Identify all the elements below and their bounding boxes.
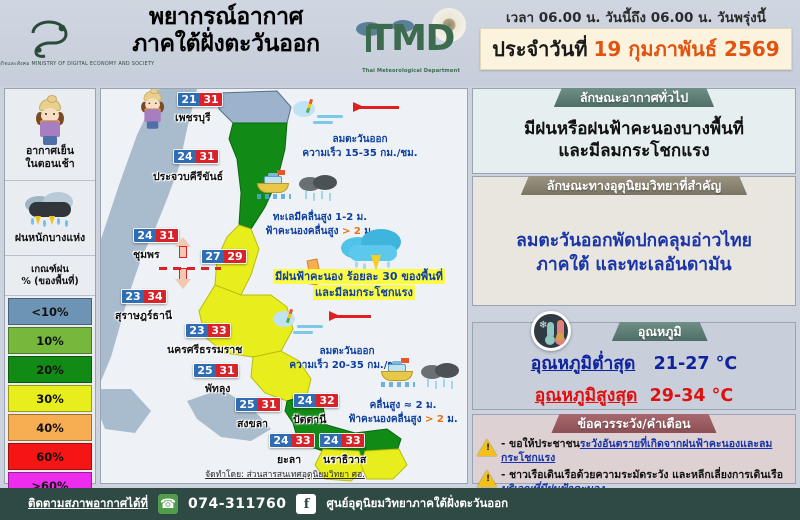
temp-max: 32 [316, 394, 338, 407]
met-line2: ภาคใต้ และทะเลอันดามัน [536, 253, 731, 278]
scale-label: 60% [36, 450, 64, 464]
wind-direction-line [335, 315, 371, 318]
date-value: 19 กุมภาพันธ์ 2569 [594, 33, 780, 65]
temp-max: 29 [224, 250, 246, 263]
cold-morning-marker-icon [137, 91, 168, 129]
sea-south-line2-c: ม. [444, 414, 458, 425]
panel-warning-body: ! - ขอให้ประชาชนระวังอันตรายที่เกิดจากฝน… [477, 437, 791, 481]
panel-meteorological: ลักษณะทางอุตุนิยมวิทยาที่สำคัญ ลมตะวันออ… [472, 176, 796, 306]
city-label-chumphon: ชุมพร [133, 246, 160, 263]
arrow-down-icon [175, 267, 191, 289]
temperature-max-row: อุณหภูมิสูงสุด 29-34 °C [535, 381, 733, 409]
rain-cloud-icon [421, 363, 459, 393]
scale-label: 30% [36, 392, 64, 406]
sea-south-line1: คลื่นสูง ≈ 2 ม. [370, 400, 437, 411]
boat-icon [257, 173, 291, 199]
temp-badge-pattani[interactable]: 24 32 [293, 393, 339, 408]
storm-annotation-line1: มีฝนฟ้าคะนอง ร้อยละ 30 ของพื้นที่ [273, 269, 445, 284]
forecast-map: 21 31 เพชรบุรี 24 31 ประจวบคีรีขันธ์ 24 … [100, 88, 468, 484]
temp-min: 24 [294, 394, 316, 407]
temperature-max-value: 29-34 °C [650, 386, 734, 406]
scale-item: 10% [8, 327, 92, 354]
sea-annotation-south: คลื่นสูง ≈ 2 ม. ฟ้าคะนองคลื่นสูง > 2 ม. [337, 399, 468, 426]
temp-badge-samui[interactable]: 27 29 [201, 249, 247, 264]
temp-min: 24 [270, 434, 292, 447]
date-badge: ประจำวันที่ 19 กุมภาพันธ์ 2569 [480, 28, 792, 70]
scale-item: 30% [8, 385, 92, 412]
page-title-line1: พยากรณ์อากาศ [96, 4, 356, 31]
warning-item: ! - ขอให้ประชาชนระวังอันตรายที่เกิดจากฝน… [477, 437, 791, 466]
scale-item: 40% [8, 414, 92, 441]
facebook-icon[interactable]: f [296, 494, 316, 514]
wind-south-line1: ลมตะวันออก [319, 346, 374, 357]
general-line1: มีฝนหรือฝนฟ้าคะนองบางพื้นที่ [524, 118, 744, 140]
header-bar: กระทรวงดิจิทัลเพื่อเศรษฐกิจและสังคม MINI… [0, 0, 800, 86]
temp-max: 34 [144, 290, 166, 303]
temp-min: 21 [178, 93, 200, 106]
temp-badge-nakhon-si[interactable]: 23 33 [185, 323, 231, 338]
wind-north-line2: ความเร็ว 15-35 กม./ชม. [302, 148, 417, 159]
temp-max: 31 [196, 150, 218, 163]
city-label-songkhla: สงขลา [237, 415, 268, 432]
neighbour-land-andaman [101, 389, 151, 433]
date-label: ประจำวันที่ [492, 33, 587, 65]
ministry-emblem-icon [26, 19, 72, 59]
forecast-time-range: เวลา 06.00 น. วันนี้ถึง 06.00 น. วันพรุ่… [480, 6, 792, 28]
panel-warning: ข้อควรระวัง/คำเตือน ! - ขอให้ประชาชนระวั… [472, 414, 796, 484]
city-label-phetchaburi: เพชรบุรี [175, 109, 211, 126]
warning-triangle-icon: ! [477, 439, 497, 457]
city-label-surat-thani: สุราษฎร์ธานี [115, 307, 172, 324]
storm-annotation-line2: และมีลมกระโชกแรง [313, 285, 415, 300]
legend-scale-title: เกณฑ์ฝน % (ของพื้นที่) [5, 256, 95, 296]
general-line2: และมีลมกระโชกแรง [558, 140, 709, 162]
arrow-up-icon [175, 237, 191, 259]
legend-cold-morning: อากาศเย็น ในตอนเช้า [5, 89, 95, 181]
sea-south-line2-a: ฟ้าคะนองคลื่นสูง [348, 414, 425, 425]
scale-label: 40% [36, 421, 64, 435]
legend-cold-label-1: อากาศเย็น [26, 145, 74, 158]
temperature-min-value: 21-27 °C [654, 354, 738, 374]
tmd-wordmark: TMD [352, 18, 470, 59]
warning-triangle-icon: ! [477, 470, 497, 488]
city-label-prachuap: ประจวบคีรีขันธ์ [153, 168, 223, 185]
warning-1-plain: - ขอให้ประชาชน [501, 438, 580, 450]
wind-north-line1: ลมตะวันออก [332, 134, 387, 145]
met-line1: ลมตะวันออกพัดปกคลุมอ่าวไทย [516, 229, 752, 254]
thermometer-icon: ❄ [531, 311, 571, 351]
thunder-rain-cloud-icon [23, 192, 77, 232]
temperature-max-label: อุณหภูมิสูงสุด [535, 386, 638, 406]
footer-follow-label: ติดตามสภาพอากาศได้ที่ [28, 495, 148, 513]
temp-min: 24 [174, 150, 196, 163]
footer-bar: ติดตามสภาพอากาศได้ที่ ☎ 074-311760 f ศูน… [0, 488, 800, 520]
sea-north-line2-a: ฟ้าคะนองคลื่นสูง [265, 226, 342, 237]
ministry-caption: กระทรวงดิจิทัลเพื่อเศรษฐกิจและสังคม MINI… [0, 61, 154, 68]
city-label-narathiwat: นราธิวาส [323, 451, 366, 468]
temp-badge-songkhla[interactable]: 25 31 [235, 397, 281, 412]
temp-min: 25 [236, 398, 258, 411]
wind-direction-arrow-icon [353, 102, 364, 112]
temp-badge-phetchaburi[interactable]: 21 31 [177, 92, 223, 107]
city-label-phatthalung: พัทลุง [205, 380, 230, 397]
temp-max: 31 [216, 364, 238, 377]
scale-item: 60% [8, 443, 92, 470]
city-label-nakhon-si: นครศรีธรรมราช [167, 341, 242, 358]
dashed-boundary-line [159, 267, 221, 270]
warning-item-1-text: - ขอให้ประชาชนระวังอันตรายที่เกิดจากฝนฟ้… [501, 437, 791, 466]
panel-warning-header: ข้อควรระวัง/คำเตือน [551, 414, 716, 433]
scale-title-line2: % (ของพื้นที่) [21, 276, 78, 287]
tmd-logo: TMD Thai Meteorological Department [352, 6, 470, 80]
scale-label: 20% [36, 363, 64, 377]
province-phetchaburi[interactable] [219, 91, 291, 127]
sun-icon [556, 333, 564, 341]
rain-percentage-scale: <10% 10% 20% 30% 40% 60% >60% [5, 298, 95, 499]
temp-max: 31 [200, 93, 222, 106]
temp-max: 33 [208, 324, 230, 337]
panel-meteorological-body: ลมตะวันออกพัดปกคลุมอ่าวไทย ภาคใต้ และทะเ… [473, 205, 795, 301]
page-title-line2: ภาคใต้ฝั่งตะวันออก [96, 31, 356, 58]
sea-north-line1: ทะเลมีคลื่นสูง 1-2 ม. [273, 212, 367, 223]
panel-meteorological-header: ลักษณะทางอุตุนิยมวิทยาที่สำคัญ [521, 176, 747, 195]
temp-min: 27 [202, 250, 224, 263]
panel-temperature-header: อุณหภูมิ [612, 322, 708, 341]
wind-direction-line [359, 106, 399, 109]
sea-south-line2-b: > 2 [425, 414, 444, 425]
temp-badge-yala[interactable]: 24 33 [269, 433, 315, 448]
temp-badge-chumphon[interactable]: 24 31 [133, 228, 179, 243]
panel-temperature: ❄ อุณหภูมิ อุณหภูมิต่ำสุด 21-27 °C อุณหภ… [472, 322, 796, 410]
panel-temperature-body: อุณหภูมิต่ำสุด 21-27 °C อุณหภูมิสูงสุด 2… [473, 351, 795, 407]
legend-cold-label-2: ในตอนเช้า [25, 158, 74, 171]
city-label-pattani: ปัตตานี [293, 411, 326, 428]
temp-min: 24 [134, 229, 156, 242]
temp-max: 31 [258, 398, 280, 411]
map-credit: จัดทำโดย: ส่วนสารสนเทศอุตุนิยมวิทยา ศอ. [101, 467, 468, 481]
legend-heavy-rain-label: ฝนหนักบางแห่ง [15, 232, 85, 245]
wind-direction-arrow-icon [329, 311, 340, 321]
temp-max: 33 [292, 434, 314, 447]
wind-swirl-icon [273, 307, 329, 339]
tmd-subtitle: Thai Meteorological Department [352, 68, 470, 74]
city-label-yala: ยะลา [277, 451, 301, 468]
temp-badge-prachuap[interactable]: 24 31 [173, 149, 219, 164]
temp-min: 23 [122, 290, 144, 303]
rain-cloud-icon [299, 175, 337, 205]
forecast-infographic: กระทรวงดิจิทัลเพื่อเศรษฐกิจและสังคม MINI… [0, 0, 800, 520]
footer-facebook-page[interactable]: ศูนย์อุตุนิยมวิทยาภาคใต้ฝั่งตะวันออก [326, 495, 508, 513]
temp-max: 33 [342, 434, 364, 447]
panel-general-body: มีฝนหรือฝนฟ้าคะนองบางพื้นที่ และมีลมกระโ… [473, 111, 795, 169]
legend-panel: อากาศเย็น ในตอนเช้า ฝนหนักบางแห่ง เกณฑ์ฝ… [4, 88, 96, 484]
phone-icon: ☎ [158, 494, 178, 514]
thunderstorm-cloud-icon [341, 227, 403, 271]
boat-icon [381, 361, 415, 387]
temp-min: 24 [320, 434, 342, 447]
temp-badge-narathiwat[interactable]: 24 33 [319, 433, 365, 448]
page-title: พยากรณ์อากาศ ภาคใต้ฝั่งตะวันออก [96, 4, 356, 58]
temp-min: 25 [194, 364, 216, 377]
temp-badge-phatthalung[interactable]: 25 31 [193, 363, 239, 378]
panel-general-header: ลักษณะอากาศทั่วไป [554, 88, 714, 107]
scale-item: <10% [8, 298, 92, 325]
scale-item: 20% [8, 356, 92, 383]
temperature-min-row: อุณหภูมิต่ำสุด 21-27 °C [531, 349, 738, 377]
panel-general-weather: ลักษณะอากาศทั่วไป มีฝนหรือฝนฟ้าคะนองบางพ… [472, 88, 796, 174]
ministry-logo: กระทรวงดิจิทัลเพื่อเศรษฐกิจและสังคม MINI… [16, 10, 82, 76]
warning-2-plain: - ชาวเรือเดินเรือด้วยความระมัดระวัง และห… [501, 469, 783, 481]
temp-min: 23 [186, 324, 208, 337]
scale-title-line1: เกณฑ์ฝน [31, 264, 69, 275]
temperature-min-label: อุณหภูมิต่ำสุด [531, 354, 636, 374]
cold-girl-icon [31, 99, 69, 145]
scale-label: 10% [36, 334, 64, 348]
wind-swirl-icon [293, 97, 349, 129]
legend-heavy-rain: ฝนหนักบางแห่ง [5, 181, 95, 256]
temp-badge-surat-thani[interactable]: 23 34 [121, 289, 167, 304]
footer-phone-number[interactable]: 074-311760 [188, 496, 286, 512]
wind-annotation-north: ลมตะวันออก ความเร็ว 15-35 กม./ชม. [287, 133, 433, 160]
scale-label: <10% [31, 305, 68, 319]
